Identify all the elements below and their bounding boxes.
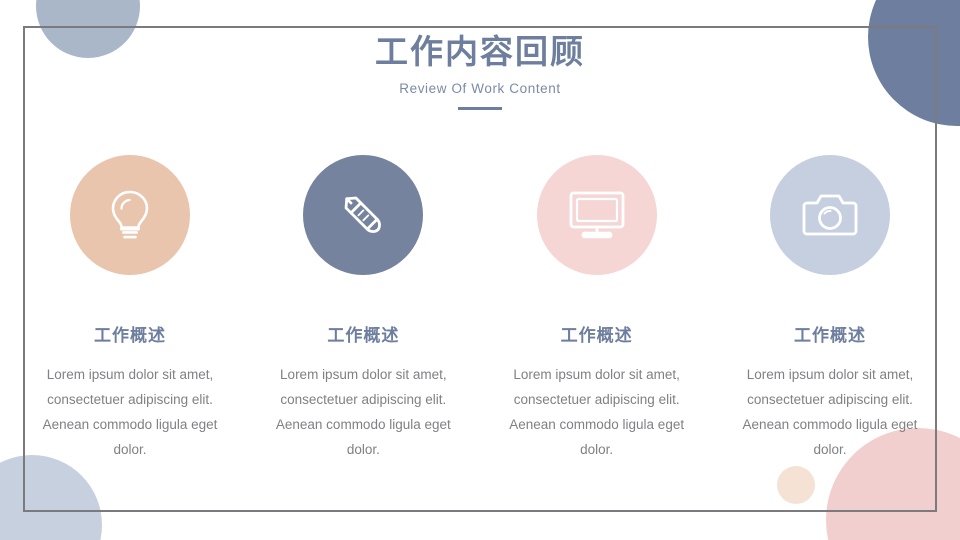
monitor-icon xyxy=(567,189,627,241)
column-body-1: Lorem ipsum dolor sit amet, consectetuer… xyxy=(37,362,223,462)
column-heading-4: 工作概述 xyxy=(794,321,866,346)
content-column-3: 工作概述 Lorem ipsum dolor sit amet, consect… xyxy=(490,155,704,462)
column-body-2: Lorem ipsum dolor sit amet, consectetuer… xyxy=(270,362,456,462)
content-column-2: 工作概述 Lorem ipsum dolor sit amet, consect… xyxy=(256,155,470,462)
decorative-circle-small-peach xyxy=(777,466,815,504)
content-column-1: 工作概述 Lorem ipsum dolor sit amet, consect… xyxy=(23,155,237,462)
slide-root: 工作内容回顾 Review Of Work Content 工作概述 Lorem… xyxy=(0,0,960,540)
title-underline-rule xyxy=(458,107,502,110)
pencil-icon xyxy=(334,186,392,244)
icon-badge-2 xyxy=(303,155,423,275)
column-heading-2: 工作概述 xyxy=(327,321,399,346)
camera-icon xyxy=(800,190,860,240)
icon-badge-3 xyxy=(537,155,657,275)
decorative-circle-bottom-left xyxy=(0,455,102,540)
lightbulb-icon xyxy=(103,187,157,243)
column-body-3: Lorem ipsum dolor sit amet, consectetuer… xyxy=(504,362,690,462)
column-heading-1: 工作概述 xyxy=(94,321,166,346)
page-title: 工作内容回顾 xyxy=(0,32,960,72)
page-subtitle: Review Of Work Content xyxy=(0,81,960,96)
icon-badge-1 xyxy=(70,155,190,275)
icon-badge-4 xyxy=(770,155,890,275)
column-body-4: Lorem ipsum dolor sit amet, consectetuer… xyxy=(737,362,923,462)
slide-header: 工作内容回顾 Review Of Work Content xyxy=(0,32,960,110)
content-columns: 工作概述 Lorem ipsum dolor sit amet, consect… xyxy=(23,155,937,462)
column-heading-3: 工作概述 xyxy=(561,321,633,346)
content-column-4: 工作概述 Lorem ipsum dolor sit amet, consect… xyxy=(723,155,937,462)
